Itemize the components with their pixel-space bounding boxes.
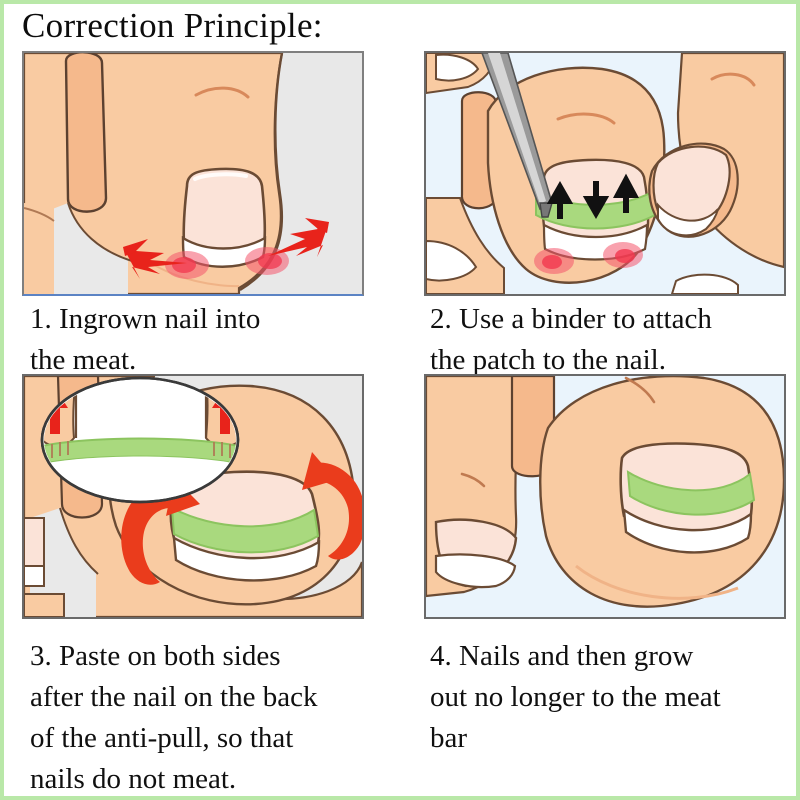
panel-1-ingrown-nail-illustration xyxy=(22,51,364,296)
ingrown-nail-drawing xyxy=(24,53,362,294)
panel-4-caption: 4. Nails and then grow out no longer to … xyxy=(430,636,790,759)
magnifier-inset xyxy=(42,376,238,502)
apply-patch-drawing xyxy=(426,53,784,294)
panel-2-caption: 2. Use a binder to attach the patch to t… xyxy=(430,299,790,381)
panel-3-paste-both-sides-illustration xyxy=(22,374,364,619)
paste-both-sides-drawing xyxy=(24,376,362,617)
panel-1-caption: 1. Ingrown nail into the meat. xyxy=(30,299,380,381)
panel-2-apply-patch-illustration xyxy=(424,51,786,296)
page-title: Correction Principle: xyxy=(22,6,323,46)
corrected-nail-drawing xyxy=(426,376,784,617)
panel-3-caption: 3. Paste on both sides after the nail on… xyxy=(30,636,390,800)
instruction-infographic: Correction Principle: xyxy=(0,0,800,800)
panel-4-corrected-nail-illustration xyxy=(424,374,786,619)
